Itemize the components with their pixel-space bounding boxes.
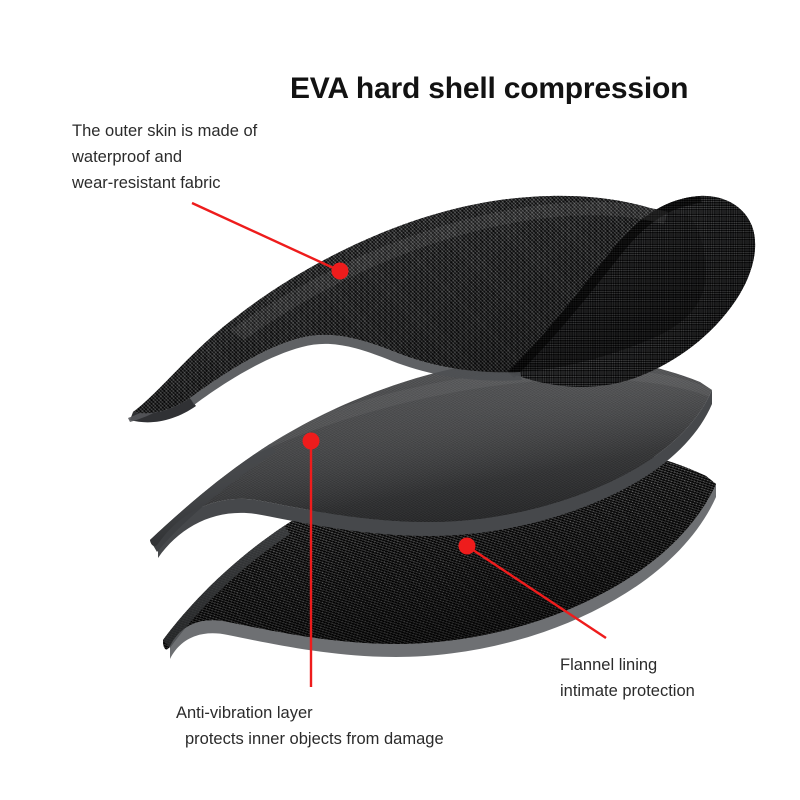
annotation-anti-vibration: Anti-vibration layer protects inner obje… [176,700,444,752]
annotation-anti-vibration-line-1: Anti-vibration layer [176,700,444,726]
annotation-flannel-lining-line-1: Flannel lining [560,652,695,678]
annotation-anti-vibration-line-2: protects inner objects from damage [176,726,444,752]
callout-line-flannel [467,546,606,638]
annotation-outer-skin-line-1: The outer skin is made of [72,118,257,144]
marker-outer-fabric [332,263,349,280]
annotation-outer-skin: The outer skin is made of waterproof and… [72,118,257,196]
annotation-flannel-lining-line-2: intimate protection [560,678,695,704]
annotation-outer-skin-line-3: wear-resistant fabric [72,170,257,196]
page-title: EVA hard shell compression [290,72,760,106]
marker-eva-foam [303,433,320,450]
callout-line-outer-fabric [192,203,340,271]
annotation-flannel-lining: Flannel lining intimate protection [560,652,695,704]
infographic-canvas: EVA hard shell compression The outer ski… [0,0,800,800]
annotation-outer-skin-line-2: waterproof and [72,144,257,170]
marker-flannel [459,538,476,555]
